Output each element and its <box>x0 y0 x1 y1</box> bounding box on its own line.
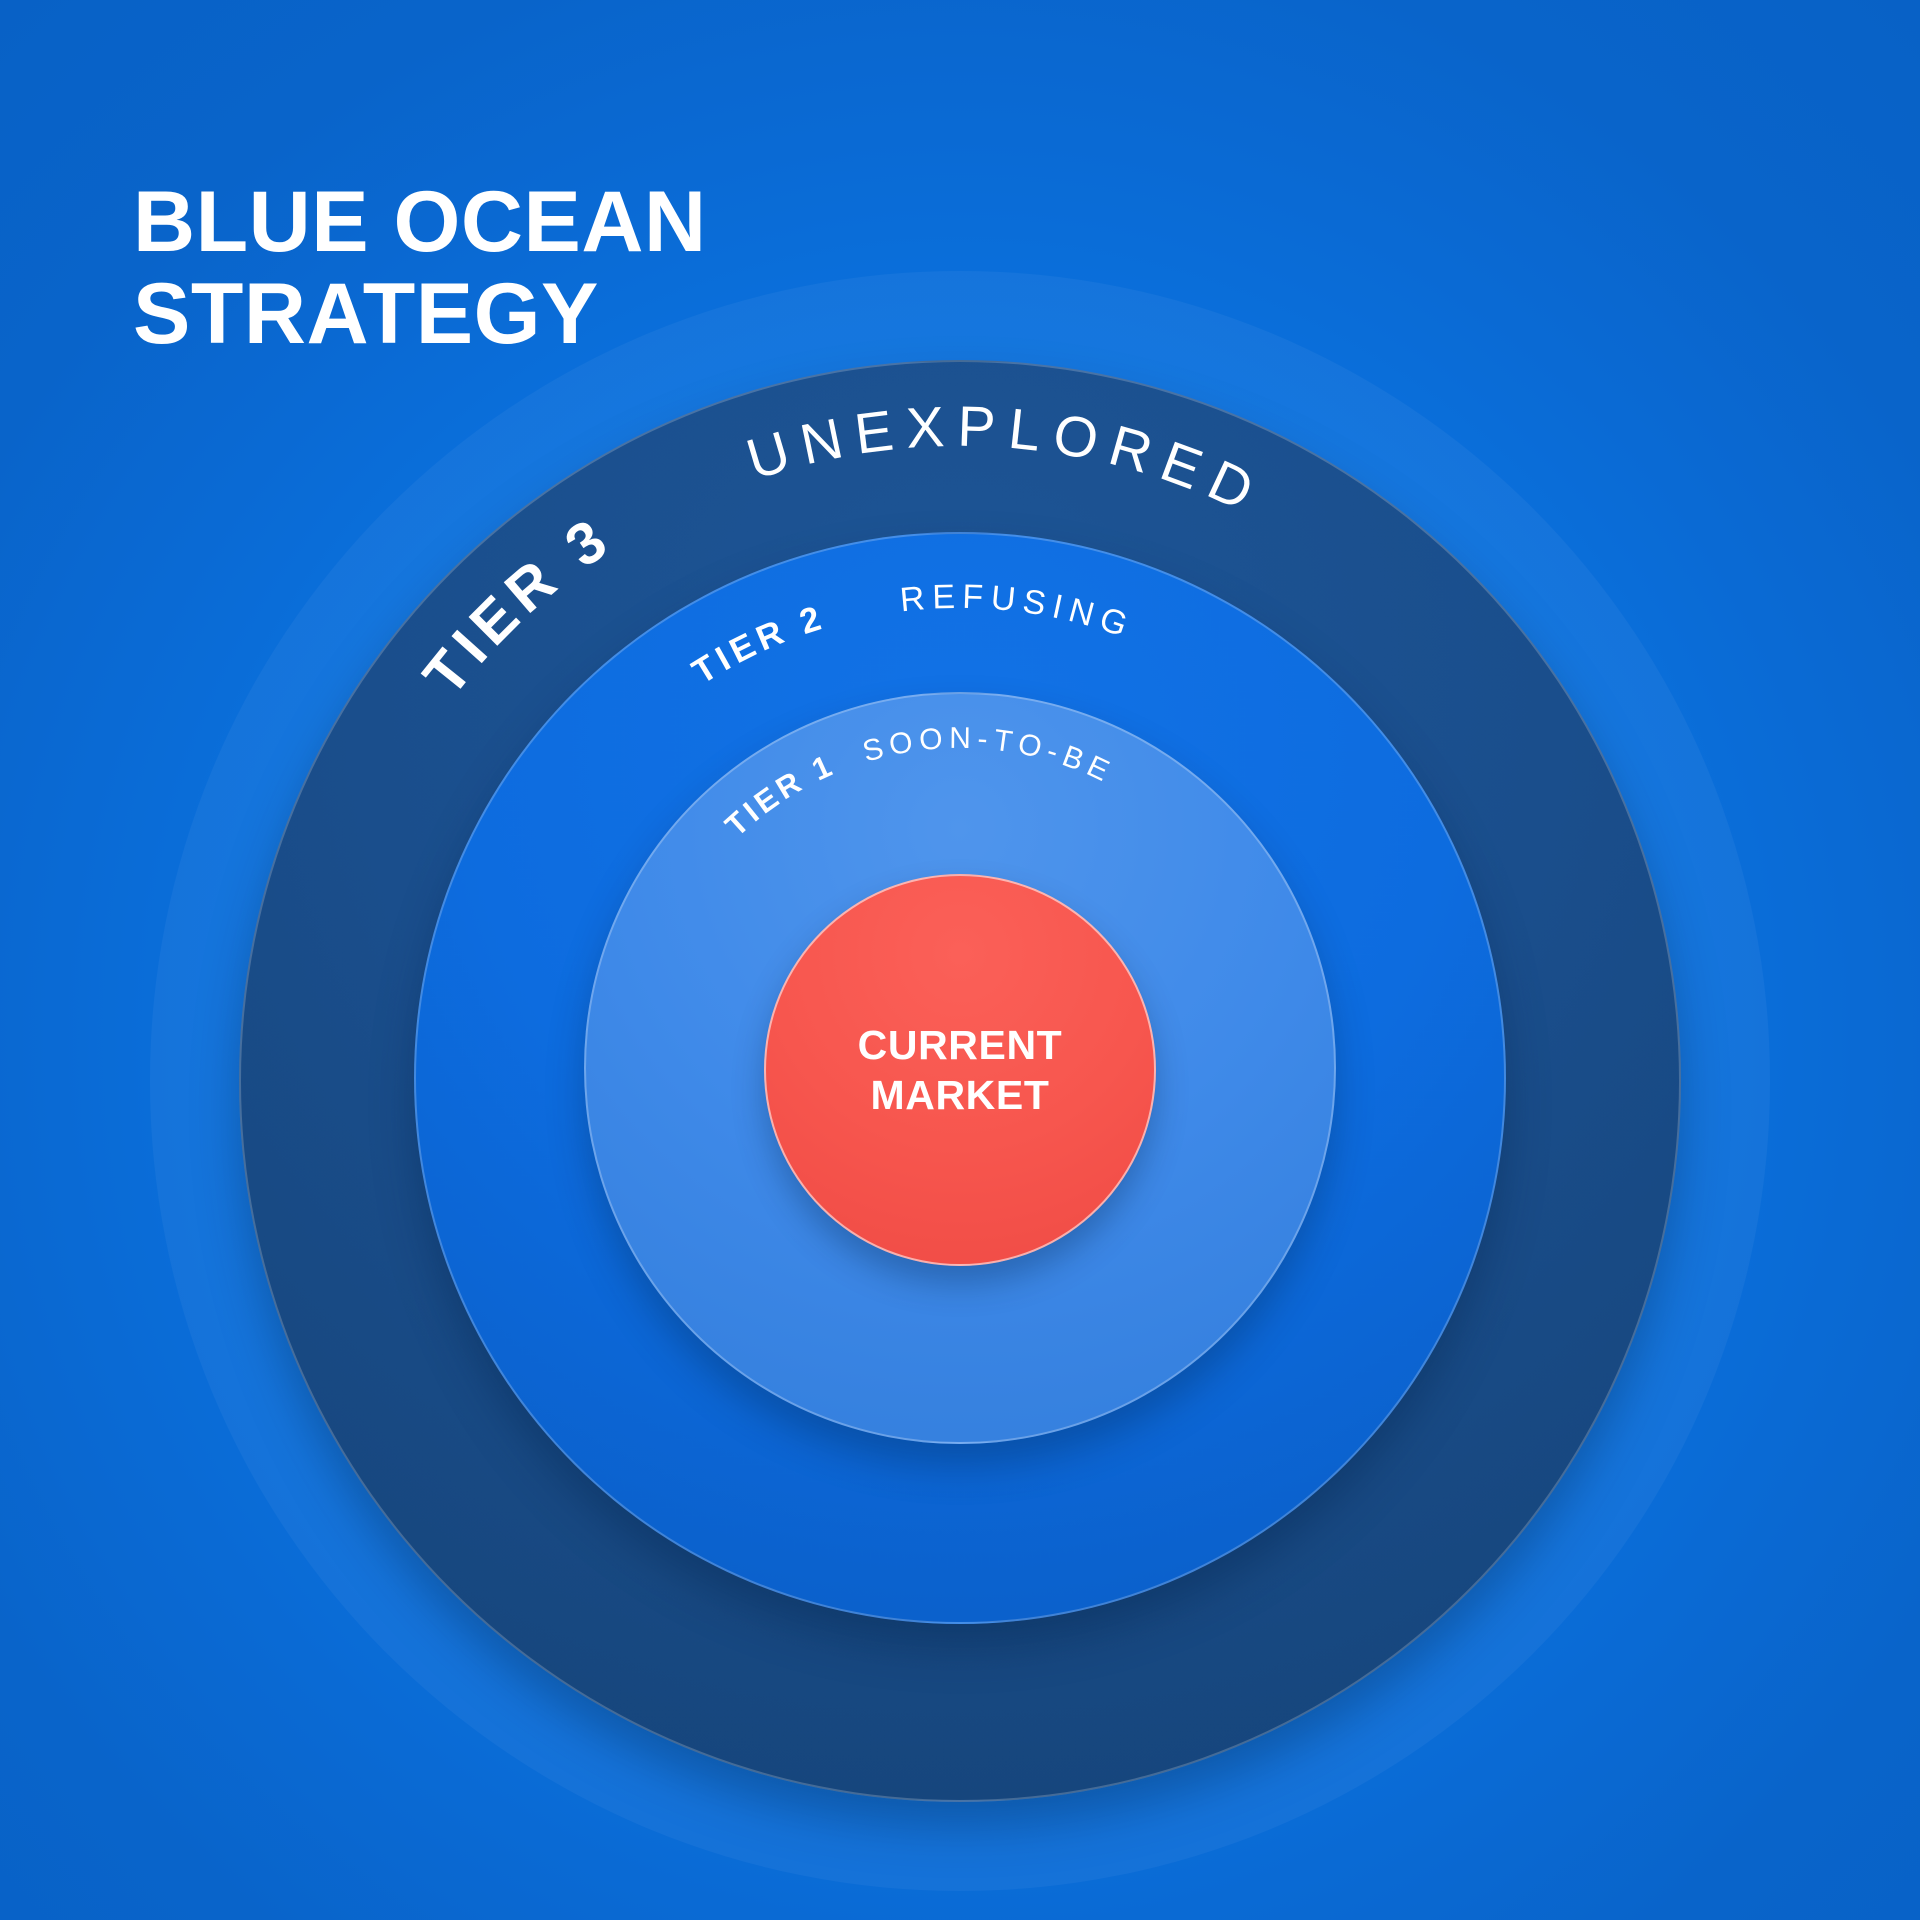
current-market-label: CURRENT MARKET <box>858 1020 1063 1120</box>
infographic-canvas: BLUE OCEAN STRATEGY CURRENT MARKET TIER … <box>0 0 1920 1920</box>
page-title: BLUE OCEAN STRATEGY <box>133 176 953 362</box>
current-market-circle[interactable]: CURRENT MARKET <box>764 874 1156 1266</box>
